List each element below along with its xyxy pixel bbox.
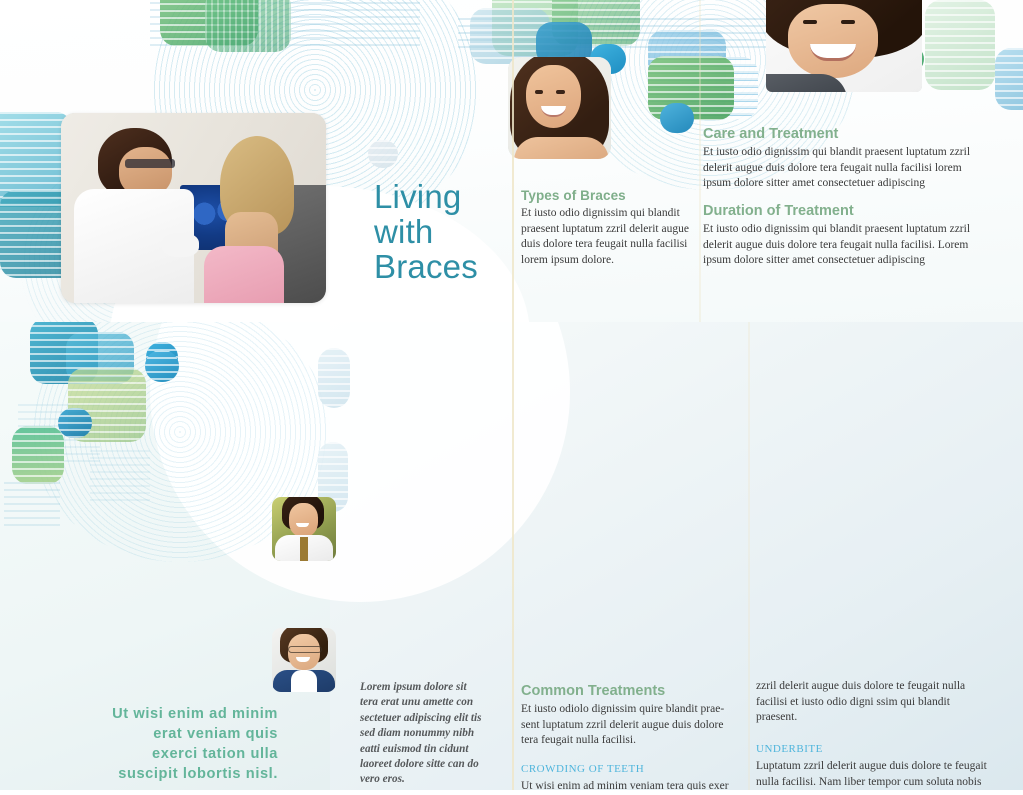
photo-smiling-young-man (766, 0, 922, 92)
section-body: Luptatum zzril delerit augue duis dolore… (756, 759, 988, 790)
page-title-line-2: with (374, 214, 524, 249)
decorative-square (145, 350, 179, 382)
photo-male-dentist-headshot (272, 497, 336, 561)
decorative-hlines (4, 482, 60, 530)
bottom-panel: Ut wisi enim ad minim erat veniam quis e… (0, 322, 1023, 790)
decorative-square (12, 426, 64, 484)
pullquote: Ut wisi enim ad minim erat veniam quis e… (110, 704, 278, 784)
section-overbite-continued: zzril delerit augue duis dolore te feuga… (756, 679, 978, 726)
section-label: UNDERBITE (756, 743, 988, 755)
section-body: Et iusto odio dignissim qui blandit prae… (703, 222, 971, 269)
section-care-and-treatment: Care and Treatment Et iusto odio digniss… (703, 126, 971, 192)
photo-female-dentist-headshot (272, 628, 336, 692)
section-common-treatments: Common Treatments Et iusto odiolo dignis… (521, 683, 739, 749)
fold-line-right (748, 322, 750, 790)
hero-photo-dentist-with-patient (61, 113, 326, 303)
decorative-square (58, 408, 92, 438)
photo-smiling-young-woman (508, 57, 611, 159)
section-underbite: UNDERBITE Luptatum zzril delerit augue d… (756, 743, 988, 790)
fold-line-left (512, 322, 514, 790)
decorative-square (318, 348, 350, 408)
decorative-square (368, 140, 398, 168)
section-types-of-braces: Types of Braces Et iusto odio dignissim … (521, 188, 696, 268)
page-title: Living with Braces (374, 179, 524, 284)
section-heading: Duration of Treatment (703, 203, 971, 219)
fold-line-left (512, 0, 514, 322)
top-panel: Living with Braces Types of Braces Et iu… (0, 0, 1023, 322)
section-label: CROWDING OF TEETH (521, 763, 739, 775)
section-heading: Care and Treatment (703, 126, 971, 142)
section-heading: Common Treatments (521, 683, 739, 699)
decorative-square (205, 0, 291, 52)
section-heading: Types of Braces (521, 188, 696, 203)
section-body: zzril delerit augue duis dolore te feuga… (756, 679, 978, 726)
lorem-italic-column: Lorem ipsum dolore sit tera erat unu ame… (360, 680, 486, 788)
decorative-square (925, 0, 995, 90)
section-crowding-of-teeth: CROWDING OF TEETH Ut wisi enim ad minim … (521, 763, 739, 790)
section-body: Et iusto odio dignissim qui blandit prae… (521, 206, 696, 268)
section-body: Et iusto odiolo dignissim quire blandit … (521, 702, 739, 749)
decorative-hlines (90, 450, 150, 506)
brochure-page: Living with Braces Types of Braces Et iu… (0, 0, 1023, 795)
page-title-line-1: Living (374, 179, 524, 214)
decorative-square (660, 103, 694, 133)
section-body: Ut wisi enim ad minim veniam tera quis e… (521, 779, 739, 790)
page-title-line-3: Braces (374, 249, 524, 284)
decorative-square (995, 48, 1023, 110)
section-duration-of-treatment: Duration of Treatment Et iusto odio dign… (703, 203, 971, 269)
fold-line-right (699, 0, 701, 322)
section-body: Et iusto odio dignissim qui blandit prae… (703, 145, 971, 192)
